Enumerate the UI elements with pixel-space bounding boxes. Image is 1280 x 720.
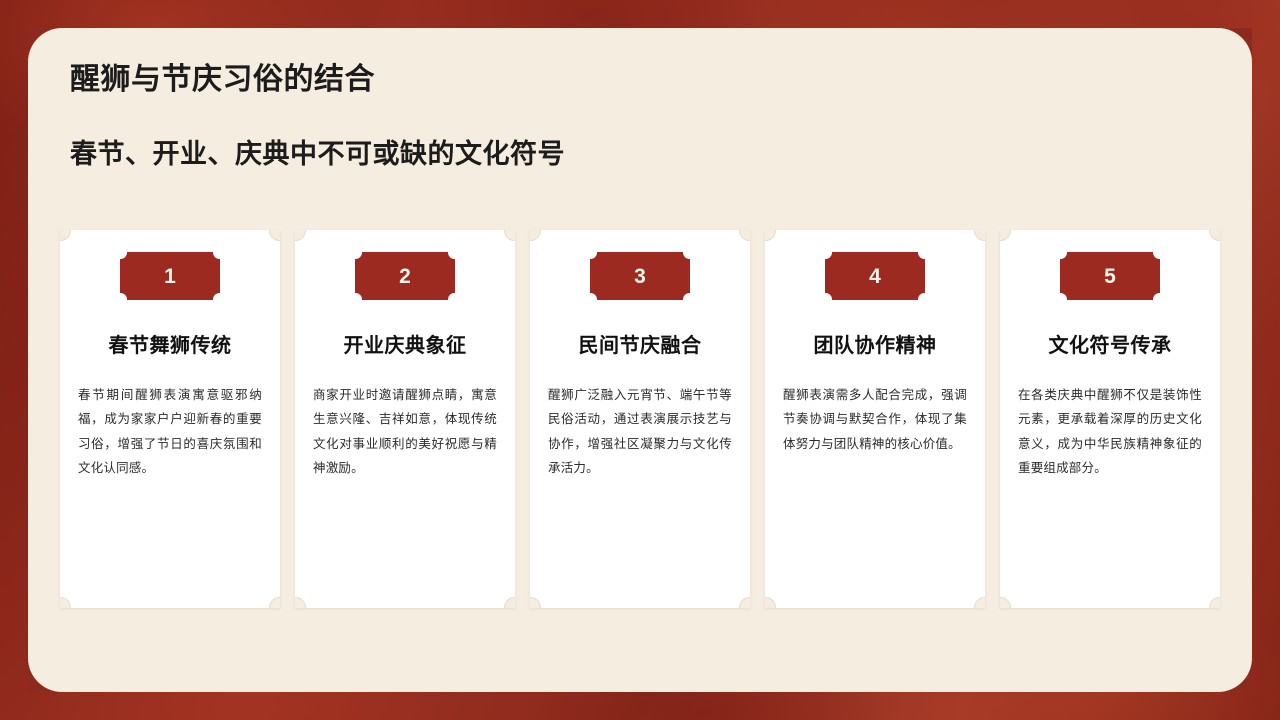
card-body: 春节期间醒狮表演寓意驱邪纳福，成为家家户户迎新春的重要习俗，增强了节日的喜庆氛围… <box>78 383 262 481</box>
panel-corner-top-left <box>28 28 62 62</box>
info-card[interactable]: 4 团队协作精神 醒狮表演需多人配合完成，强调节奏协调与默契合作，体现了集体努力… <box>765 230 985 608</box>
card-title: 开业庆典象征 <box>344 334 467 359</box>
badge-notch-bottom-right <box>677 287 690 300</box>
card-number: 1 <box>164 266 176 287</box>
badge-notch-top-left <box>1060 252 1073 265</box>
badge-notch-bottom-right <box>442 287 455 300</box>
card-title: 春节舞狮传统 <box>109 334 232 359</box>
badge-notch-bottom-left <box>825 287 838 300</box>
badge-notch-bottom-right <box>1147 287 1160 300</box>
badge-notch-bottom-left <box>1060 287 1073 300</box>
badge-notch-bottom-right <box>207 287 220 300</box>
badge-notch-bottom-left <box>590 287 603 300</box>
badge-notch-top-right <box>1147 252 1160 265</box>
card-title: 文化符号传承 <box>1049 334 1172 359</box>
panel-corner-bottom-left <box>28 658 62 692</box>
badge-notch-bottom-left <box>355 287 368 300</box>
headings-block: 醒狮与节庆习俗的结合 春节、开业、庆典中不可或缺的文化符号 <box>70 62 565 170</box>
card-body: 醒狮表演需多人配合完成，强调节奏协调与默契合作，体现了集体努力与团队精神的核心价… <box>783 383 967 456</box>
badge-notch-bottom-right <box>912 287 925 300</box>
panel-corner-bottom-right <box>1218 658 1252 692</box>
badge-notch-top-right <box>912 252 925 265</box>
card-number: 2 <box>399 266 411 287</box>
info-card[interactable]: 1 春节舞狮传统 春节期间醒狮表演寓意驱邪纳福，成为家家户户迎新春的重要习俗，增… <box>60 230 280 608</box>
card-number: 4 <box>869 266 881 287</box>
slide-stage: 醒狮与节庆习俗的结合 春节、开业、庆典中不可或缺的文化符号 1 春节 <box>0 0 1280 720</box>
page-subtitle: 春节、开业、庆典中不可或缺的文化符号 <box>70 138 565 170</box>
card-number-badge: 5 <box>1060 252 1160 300</box>
card-row: 1 春节舞狮传统 春节期间醒狮表演寓意驱邪纳福，成为家家户户迎新春的重要习俗，增… <box>60 230 1220 608</box>
badge-notch-top-right <box>207 252 220 265</box>
badge-notch-top-right <box>442 252 455 265</box>
card-number-badge: 3 <box>590 252 690 300</box>
card-number: 3 <box>634 266 646 287</box>
card-number-badge: 1 <box>120 252 220 300</box>
badge-notch-top-left <box>825 252 838 265</box>
panel-corner-top-right <box>1218 28 1252 62</box>
badge-notch-top-left <box>355 252 368 265</box>
badge-notch-top-left <box>120 252 133 265</box>
badge-notch-top-right <box>677 252 690 265</box>
card-number: 5 <box>1104 266 1116 287</box>
card-number-badge: 2 <box>355 252 455 300</box>
card-title: 民间节庆融合 <box>579 334 702 359</box>
card-number-badge: 4 <box>825 252 925 300</box>
card-body: 在各类庆典中醒狮不仅是装饰性元素，更承载着深厚的历史文化意义，成为中华民族精神象… <box>1018 383 1202 481</box>
content-panel: 醒狮与节庆习俗的结合 春节、开业、庆典中不可或缺的文化符号 1 春节 <box>28 28 1252 692</box>
card-title: 团队协作精神 <box>814 334 937 359</box>
page-title: 醒狮与节庆习俗的结合 <box>70 62 565 98</box>
badge-notch-top-left <box>590 252 603 265</box>
card-body: 商家开业时邀请醒狮点睛，寓意生意兴隆、吉祥如意，体现传统文化对事业顺利的美好祝愿… <box>313 383 497 481</box>
card-body: 醒狮广泛融入元宵节、端午节等民俗活动，通过表演展示技艺与协作，增强社区凝聚力与文… <box>548 383 732 481</box>
badge-notch-bottom-left <box>120 287 133 300</box>
info-card[interactable]: 2 开业庆典象征 商家开业时邀请醒狮点睛，寓意生意兴隆、吉祥如意，体现传统文化对… <box>295 230 515 608</box>
info-card[interactable]: 5 文化符号传承 在各类庆典中醒狮不仅是装饰性元素，更承载着深厚的历史文化意义，… <box>1000 230 1220 608</box>
info-card[interactable]: 3 民间节庆融合 醒狮广泛融入元宵节、端午节等民俗活动，通过表演展示技艺与协作，… <box>530 230 750 608</box>
